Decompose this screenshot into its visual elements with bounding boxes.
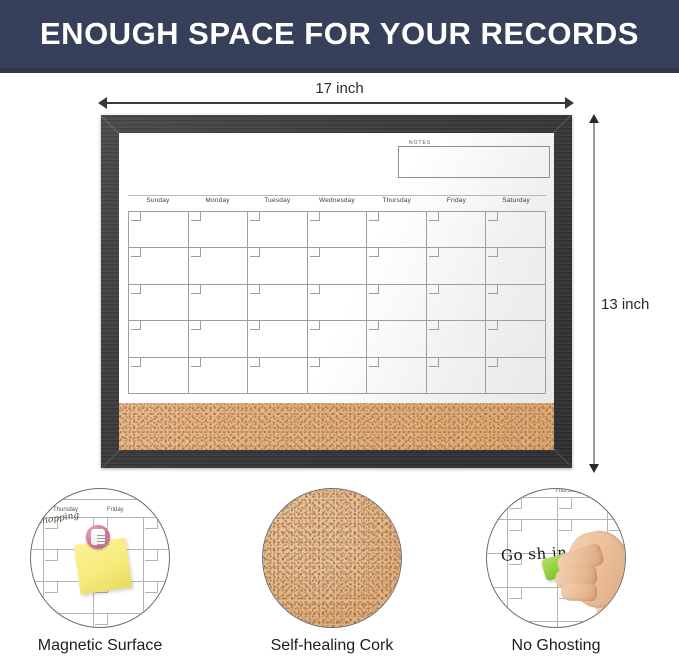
whiteboard-area: NOTES Sunday Monday Tuesday Wednesday Th… [119,133,554,403]
mini-daybox-9 [145,582,158,593]
calendar-cell [248,212,308,248]
calendar-cell [486,358,546,394]
feature-2-circle [262,488,402,628]
calendar-cell [486,285,546,321]
height-arrow-top-icon [589,114,599,123]
day-header-row: Sunday Monday Tuesday Wednesday Thursday… [128,197,546,210]
day-name-sunday: Sunday [128,197,188,210]
mini3-daybox-4 [509,520,522,531]
feature-self-healing-cork: Self-healing Cork [242,488,422,655]
calendar-cell [189,321,249,357]
height-arrow-bottom-icon [589,464,599,473]
calendar-grid [128,211,546,394]
mini3-dayname-thursday: Thursday [555,488,580,494]
feature-magnetic-surface: Thursday Friday Sat Shopping Magnetic Su… [10,488,190,655]
mini-daybox-6 [145,550,158,561]
mini-daybox-3 [145,518,158,529]
cork-strip [119,403,554,450]
calendar-cell [367,321,427,357]
width-dimension-line [104,102,568,104]
calendar-cell [189,212,249,248]
hand-illustration [553,519,626,628]
calendar-cell [308,285,368,321]
feature-no-ghosting: Thursday Go sh in No Ghosting [466,488,646,655]
width-arrow-left-icon [98,97,107,109]
mini-vline-3 [143,517,144,628]
calendar-cell [189,285,249,321]
width-arrow-right-icon [565,97,574,109]
frame-miter-bottom-left [102,449,121,468]
magnet-lines [97,535,109,547]
calendar-cell [486,248,546,284]
magnet-inner [91,529,105,545]
magnet-icon [86,525,110,549]
calendar-cell [248,285,308,321]
calendar-cell [427,285,487,321]
calendar-cell [367,285,427,321]
mini-daybox-10 [45,614,58,625]
feature-3-label: No Ghosting [466,637,646,655]
notes-box [398,146,550,178]
calendar-cell [486,321,546,357]
calendar-cell [367,358,427,394]
header-banner: ENOUGH SPACE FOR YOUR RECORDS [0,0,679,73]
calendar-cell [129,285,189,321]
calendar-cell [367,248,427,284]
height-dimension-label: 13 inch [601,296,649,313]
day-name-monday: Monday [188,197,248,210]
calendar-cell [427,248,487,284]
banner-title: ENOUGH SPACE FOR YOUR RECORDS [0,0,679,68]
frame-miter-top-left [101,116,120,135]
day-name-tuesday: Tuesday [247,197,307,210]
day-name-saturday: Saturday [486,197,546,210]
feature-1-circle: Thursday Friday Sat Shopping [30,488,170,628]
calendar-cell [308,358,368,394]
mini3-daybox-2 [559,498,572,509]
calendar-cell [367,212,427,248]
calendar-cell [129,248,189,284]
calendar-cell [248,248,308,284]
calendar-cell [308,212,368,248]
calendar-cell [427,358,487,394]
cork-disc [263,489,401,627]
calendar-cell [308,248,368,284]
calendar-cell [129,321,189,357]
feature-1-label: Magnetic Surface [10,637,190,655]
calendar-cell [427,212,487,248]
day-name-wednesday: Wednesday [307,197,367,210]
calendar-cell [427,321,487,357]
mini3-daybox-10 [509,588,522,599]
mini-vline-1 [43,517,44,628]
calendar-cell [486,212,546,248]
feature-2-label: Self-healing Cork [242,637,422,655]
height-dimension-line [593,122,595,466]
board-surface: NOTES Sunday Monday Tuesday Wednesday Th… [119,133,554,450]
mini-dayname-saturday: Sat [157,507,166,513]
notes-label: NOTES [406,140,434,146]
mini-daybox-11 [95,614,108,625]
calendar-cell [189,248,249,284]
mini-rule-top [30,499,170,500]
day-name-friday: Friday [427,197,487,210]
mini-daybox-12 [145,614,158,625]
day-header-rule [128,195,546,196]
feature-3-circle: Thursday Go sh in [486,488,626,628]
hand-finger-ring [561,582,598,601]
day-name-thursday: Thursday [367,197,427,210]
calendar-cell [248,358,308,394]
frame-miter-bottom-right [553,448,572,467]
frame-miter-top-right [552,115,571,134]
width-dimension-label: 17 inch [0,80,679,97]
calendar-cell [129,358,189,394]
mini-daybox-4 [45,550,58,561]
mini-daybox-7 [45,582,58,593]
calendar-cell [189,358,249,394]
mini3-daybox-3 [609,498,622,509]
mini-dayname-friday: Friday [107,507,124,513]
mini3-daybox-1 [509,498,522,509]
calendar-board-frame: NOTES Sunday Monday Tuesday Wednesday Th… [101,115,572,468]
calendar-cell [308,321,368,357]
calendar-cell [248,321,308,357]
calendar-cell [129,212,189,248]
